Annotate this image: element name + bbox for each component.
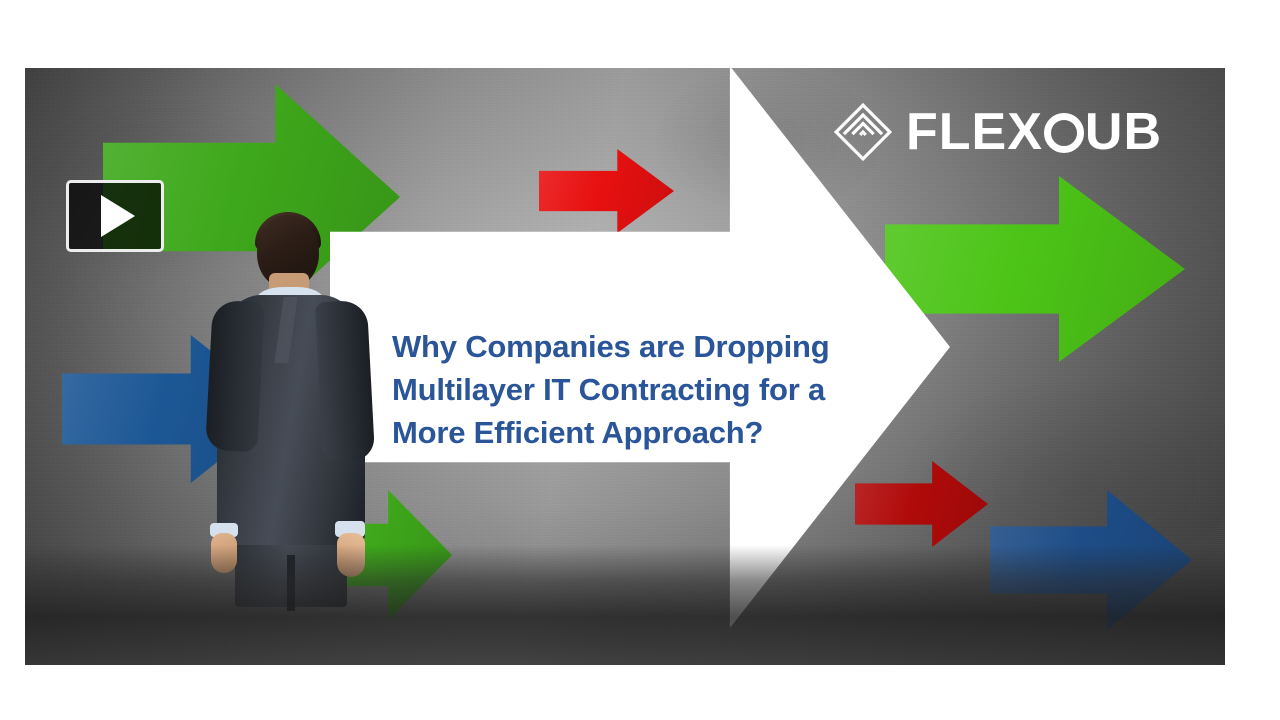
screenshot-root: Why Companies are Dropping Multilayer IT… bbox=[0, 0, 1280, 720]
page-title: Why Companies are Dropping Multilayer IT… bbox=[392, 326, 922, 454]
title-line-1: Why Companies are Dropping bbox=[392, 326, 922, 369]
video-player[interactable]: Why Companies are Dropping Multilayer IT… bbox=[25, 68, 1225, 665]
diamond-layers-icon bbox=[834, 103, 892, 161]
brand-name: FLEXUB bbox=[906, 106, 1162, 158]
brand-logo: FLEXUB bbox=[834, 103, 1162, 161]
brand-letter-c-ring bbox=[1044, 113, 1084, 153]
brand-name-part-1: FLEX bbox=[906, 103, 1043, 161]
brand-name-part-3: UB bbox=[1085, 103, 1162, 161]
floor-shadow bbox=[25, 545, 1225, 665]
title-line-3: More Efficient Approach? bbox=[392, 412, 922, 455]
man-left-arm bbox=[205, 300, 265, 453]
title-line-2: Multilayer IT Contracting for a bbox=[392, 369, 922, 412]
businessman-figure bbox=[195, 215, 380, 597]
play-triangle-icon bbox=[101, 195, 135, 237]
man-right-arm bbox=[315, 300, 375, 463]
play-button[interactable] bbox=[66, 180, 164, 252]
